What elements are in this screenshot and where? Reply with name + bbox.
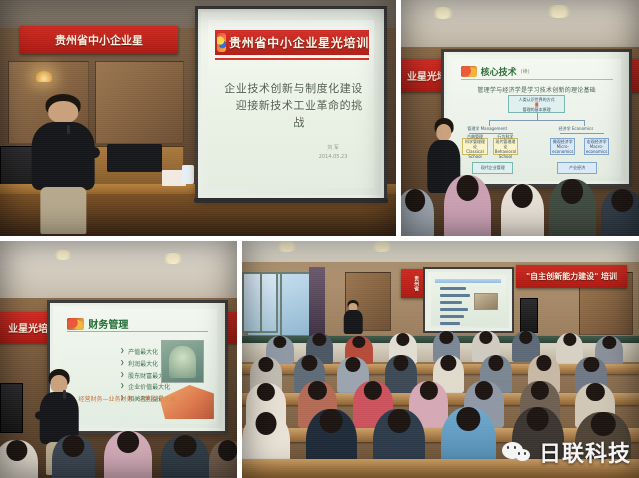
slide-body-text: 企业技术创新与制度化建设 迎接新技术工业革命的挑战: [223, 80, 364, 131]
screen-roller-bar: [194, 198, 388, 203]
flow-connector: [560, 133, 604, 134]
screen-surface: 贵州省中小企业星光培训 企业技术创新与制度化建设 迎接新技术工业革命的挑战 刘 …: [201, 12, 381, 195]
loudspeaker: [520, 298, 538, 333]
slide-title-line-2: 迎接新技术工业革命的挑战: [223, 97, 364, 131]
monitor: [107, 144, 162, 172]
program-logo-icon: [461, 66, 477, 77]
list-item: 企业价值最大化: [120, 382, 176, 394]
flow-leaf-left: 现代企业管理: [472, 162, 513, 174]
flow-connector: [537, 113, 538, 120]
slide-header-text: 财务管理: [88, 316, 128, 331]
projector-screen: 贵州省中小企业星光培训 企业技术创新与制度化建设 迎接新技术工业革命的挑战 刘 …: [198, 9, 384, 198]
flow-box-right-1: 微观经济学 Micro- economics: [550, 138, 575, 155]
flow-connector: [489, 120, 584, 121]
flow-root-line3: 管理的基本原理: [523, 107, 551, 112]
slide-divider: [215, 58, 369, 60]
conference-room-scene: 业星光培训 财务管理 产值最大化 利润最大化 股东财富最: [0, 241, 237, 478]
audience-member: [52, 435, 95, 478]
flow-box-right-2: 宏观经济学 Macro- economics: [584, 138, 609, 155]
event-banner-right: "自主创新能力建设" 培训: [516, 265, 627, 289]
slide-photo: [474, 293, 498, 310]
presenter-name: 刘 军: [319, 144, 348, 153]
audience-member: [401, 189, 434, 236]
audience-member: [385, 355, 417, 393]
flow-root-box: 人类认识世界的方式 道 管理的基本原理: [508, 95, 565, 113]
watermark: 日联科技: [502, 436, 631, 468]
photo-panel-bottom-right: 贵州省 "自主创新能力建设" 培训: [242, 241, 639, 478]
ceiling-light: [161, 253, 185, 264]
slide-map-image: [161, 340, 204, 383]
torso: [344, 310, 363, 334]
audience-member: [209, 440, 237, 478]
presenter-figure: [20, 94, 107, 231]
presenter-figure: [341, 300, 365, 338]
microphone: [67, 125, 70, 134]
projector-screen: 核心技术 (续) 管理学与经济学是学习技术创新的理论基础 人类认识世界的方式 道…: [444, 52, 630, 184]
slide-divider: [67, 331, 207, 332]
slide-header-text: 贵州省中小企业星光培训: [229, 34, 369, 51]
slide-header: 财务管理: [67, 316, 128, 331]
slide-audience-view: [431, 275, 506, 326]
window: [242, 272, 278, 333]
microphone: [63, 390, 66, 399]
watermark-text: 日联科技: [539, 436, 631, 468]
photo-collage: 贵州省中小企业星: [0, 0, 639, 478]
slide-caption: 经营财务—业务财务—运营监控: [79, 394, 163, 403]
ceiling-light: [369, 241, 395, 252]
audience-member: [0, 440, 38, 478]
flow-box-left-1: 古典管理 科学管理理论 Classical School: [462, 138, 487, 155]
slide-text-rows: [440, 287, 470, 329]
photo-panel-top-right: 业星光培训 核心技术 (续) 管理学与经济学是学习技术创新的理论基础: [401, 0, 639, 236]
program-logo-icon: [217, 33, 226, 52]
presentation-date: 2014.05.23: [319, 153, 348, 162]
screen-surface: 核心技术 (续) 管理学与经济学是学习技术创新的理论基础 人类认识世界的方式 道…: [447, 55, 627, 181]
slide-title-deck: 贵州省中小企业星光培训 企业技术创新与制度化建设 迎接新技术工业革命的挑战 刘 …: [208, 20, 374, 188]
head: [436, 124, 451, 141]
audience-member: [104, 431, 151, 478]
slide-header-bar: [435, 279, 501, 284]
slide-title-line-1: 企业技术创新与制度化建设: [224, 82, 363, 95]
legs: [41, 187, 86, 234]
audience-member: [549, 179, 597, 236]
conference-room-scene: 业星光培训 核心技术 (续) 管理学与经济学是学习技术创新的理论基础: [401, 0, 639, 236]
ceiling: [0, 241, 237, 303]
audience-member: [444, 175, 492, 236]
program-logo-icon: [67, 318, 84, 330]
ceiling-light: [430, 7, 456, 19]
slide-flowchart: 核心技术 (续) 管理学与经济学是学习技术创新的理论基础 人类认识世界的方式 道…: [452, 59, 621, 178]
flow-box-left-2: 行为科学 现代管理理论 Behavioral School: [493, 138, 518, 155]
audience-member: [601, 189, 639, 236]
projector-screen: [425, 269, 512, 331]
slide-header: 核心技术 (续): [461, 65, 530, 78]
photo-panel-top-left: 贵州省中小企业星: [0, 0, 396, 236]
wall-panel: [95, 61, 184, 143]
photo-panel-bottom-left: 业星光培训 财务管理 产值最大化 利润最大化 股东财富最: [0, 241, 237, 478]
slide-subtitle: 管理学与经济学是学习技术创新的理论基础: [452, 85, 621, 94]
flow-branch-label-right: 经济学 Economics: [559, 126, 594, 132]
audience-member: [501, 184, 544, 236]
slide-footer: 刘 军 2014.05.23: [319, 144, 348, 161]
wechat-icon: [502, 441, 532, 463]
water-bottle: [182, 165, 194, 184]
audience-member: [556, 333, 584, 364]
slide-header-text: 核心技术: [481, 65, 517, 78]
slide-header-band: 贵州省中小企业星光培训: [215, 30, 369, 55]
slide-header-note: (续): [521, 68, 530, 75]
loudspeaker: [0, 383, 23, 432]
slide-divider: [461, 79, 613, 80]
screen-surface: [428, 272, 509, 328]
ceiling-light: [274, 241, 300, 252]
head: [49, 101, 79, 123]
flow-branch-label-left: 管理学 Management: [467, 126, 507, 132]
wall-sconce-light: [36, 71, 52, 82]
event-banner: 贵州省中小企业星: [20, 26, 178, 54]
flow-leaf-right: 产业经济: [557, 162, 598, 174]
conference-room-scene: 贵州省中小企业星: [0, 0, 396, 236]
curtain: [309, 267, 325, 338]
audience-member: [161, 435, 208, 478]
ceiling-light: [544, 5, 574, 18]
